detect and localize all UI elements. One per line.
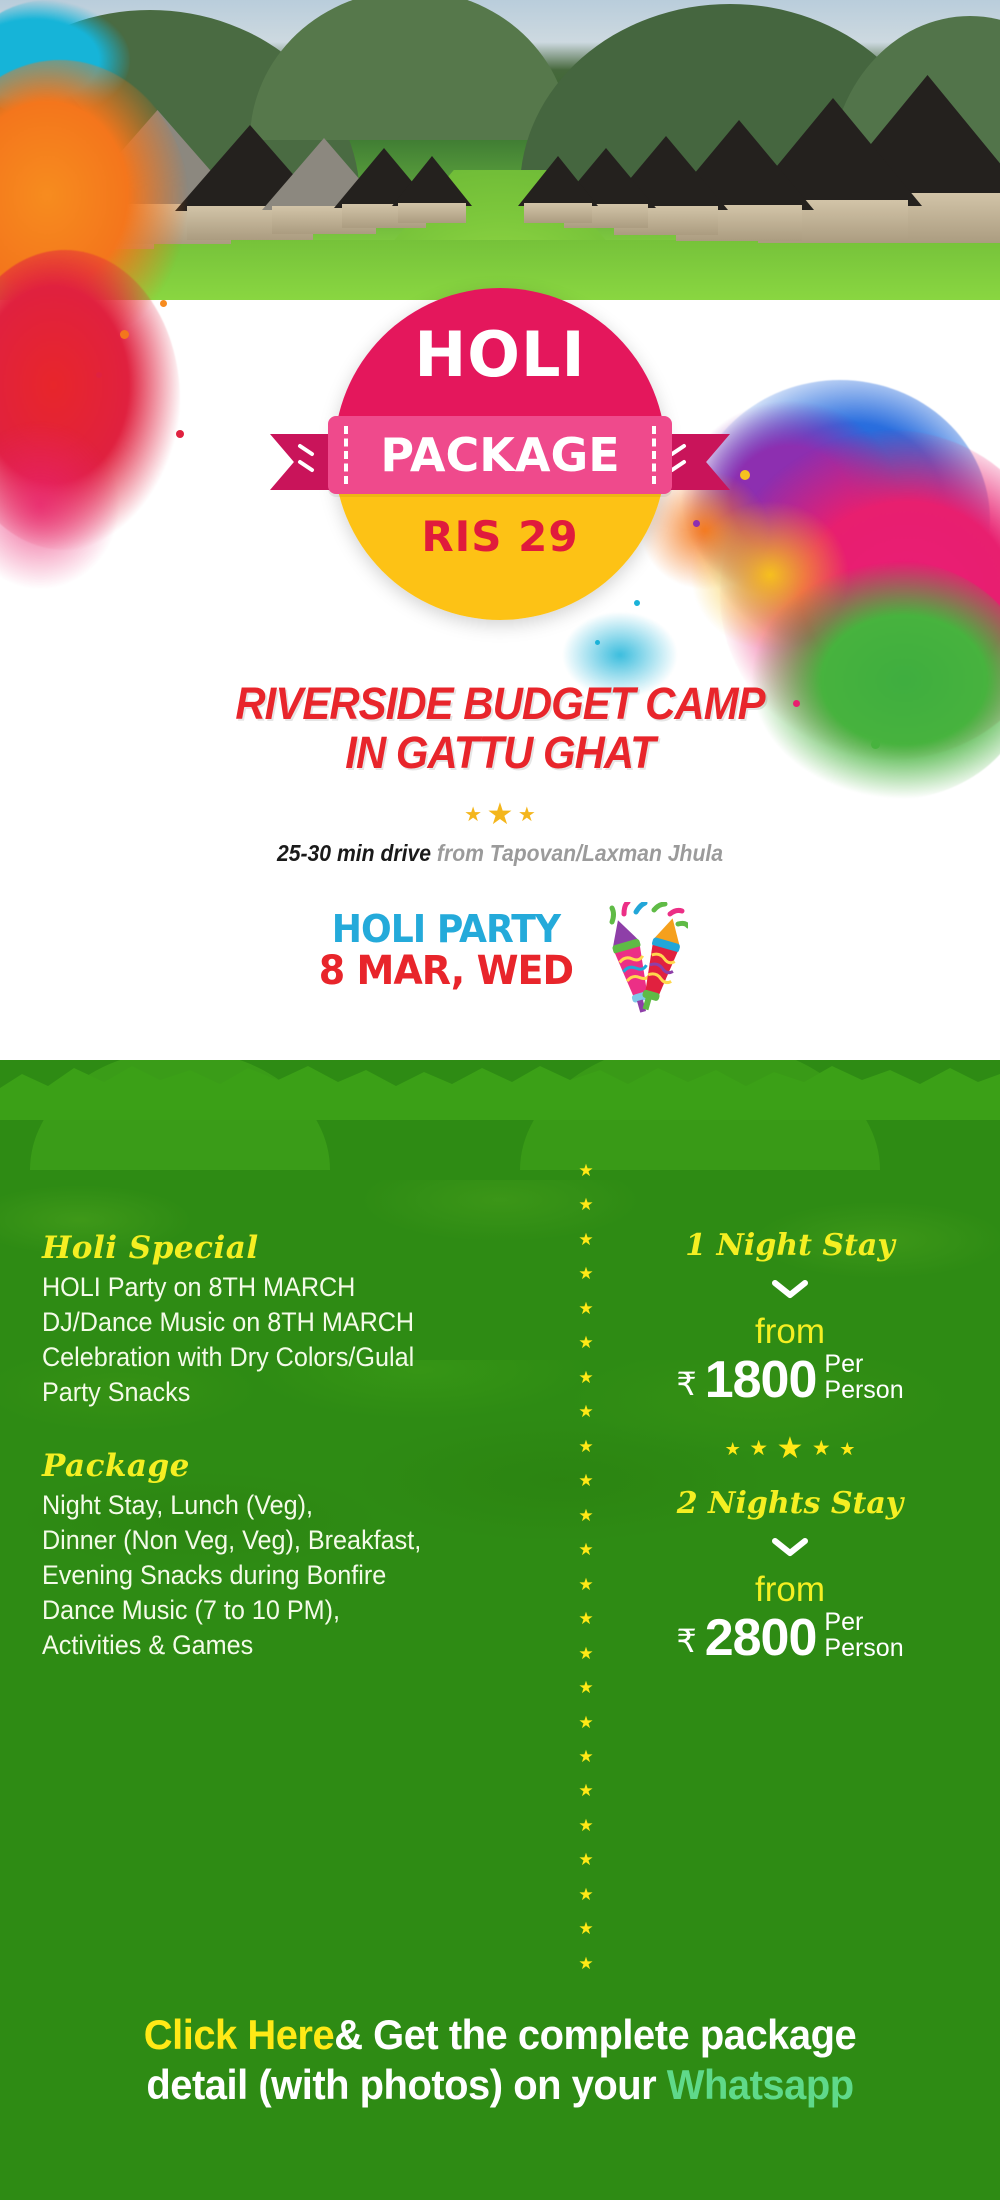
price-from-label: from: [610, 1572, 970, 1607]
price-option-title: 2 Nights Stay: [610, 1486, 970, 1521]
package-heading: Package: [42, 1448, 552, 1484]
detail-line: DJ/Dance Music on 8TH MARCH: [42, 1305, 527, 1340]
tent-row-right: [500, 0, 1000, 300]
detail-line: Dinner (Non Veg, Veg), Breakfast,: [42, 1523, 527, 1558]
drive-time-light: from Tapovan/Laxman Jhula: [437, 840, 723, 866]
pricing-star-divider: ★ ★ ★ ★ ★: [610, 1434, 970, 1464]
badge-ribbon: PACKAGE: [270, 416, 730, 494]
star-icon: ★: [749, 1438, 768, 1459]
star-icon: ★: [578, 1851, 593, 1868]
star-icon: ★: [578, 1438, 593, 1455]
cta-line-2[interactable]: detail (with photos) on your Whatsapp: [25, 2060, 975, 2110]
holi-package-badge: HOLI PACKAGE RIS 29: [334, 288, 666, 620]
firecracker-icon: [602, 902, 688, 1014]
price-row: ₹ 2800 Per Person: [610, 1609, 970, 1664]
holi-party-text: HOLI PARTY 8 MAR, WED: [312, 910, 580, 992]
ribbon-band: PACKAGE: [328, 416, 672, 494]
spatter-dot: [120, 330, 129, 339]
price-per-label: Per Person: [824, 1609, 903, 1664]
star-icon: ★: [578, 1162, 593, 1179]
star-icon: ★: [839, 1440, 855, 1458]
detail-line: Dance Music (7 to 10 PM),: [42, 1593, 527, 1628]
star-icon: ★: [578, 1334, 593, 1351]
badge-ribbon-label: PACKAGE: [328, 416, 672, 494]
page-title: RIVERSIDE BUDGET CAMP IN GATTU GHAT: [35, 680, 965, 777]
holi-special-heading: Holi Special: [42, 1230, 552, 1266]
detail-line: Evening Snacks during Bonfire: [42, 1558, 527, 1593]
star-icon: ★: [578, 1196, 593, 1213]
cta-line-1[interactable]: Click Here& Get the complete package: [25, 2010, 975, 2060]
star-icon: ★: [578, 1369, 593, 1386]
price-option-1-night: 1 Night Stay from ₹ 1800 Per Person: [610, 1228, 970, 1406]
spatter-dot: [740, 470, 750, 480]
holi-special-block: Holi Special HOLI Party on 8TH MARCH DJ/…: [42, 1230, 552, 1410]
star-icon: ★: [578, 1679, 593, 1696]
price-per-line1: Per: [824, 1350, 863, 1378]
star-icon: ★: [464, 805, 482, 825]
star-icon: ★: [578, 1541, 593, 1558]
price-per-line1: Per: [824, 1608, 863, 1636]
tent: [518, 156, 598, 206]
rating-stars: ★ ★ ★: [0, 800, 1000, 830]
star-icon: ★: [578, 1472, 593, 1489]
price-amount: 1800: [705, 1356, 817, 1405]
drive-time-note: 25-30 min drive from Tapovan/Laxman Jhul…: [40, 840, 960, 867]
chevron-down-icon: [770, 1279, 810, 1299]
price-option-2-nights: 2 Nights Stay from ₹ 2800 Per Person: [610, 1486, 970, 1664]
drive-time-bold: 25-30 min drive: [277, 840, 431, 866]
price-per-line2: Person: [824, 1634, 903, 1662]
holi-party-label: HOLI PARTY: [319, 910, 573, 950]
detail-line: HOLI Party on 8TH MARCH: [42, 1270, 527, 1305]
star-icon: ★: [518, 805, 536, 825]
title-line-2: IN GATTU GHAT: [35, 729, 965, 778]
cta-banner[interactable]: Click Here& Get the complete package det…: [25, 2010, 975, 2111]
spatter-dot: [176, 430, 184, 438]
poster-root: HOLI PACKAGE RIS 29 RI: [0, 0, 1000, 2200]
package-body: Night Stay, Lunch (Veg), Dinner (Non Veg…: [42, 1488, 527, 1663]
star-icon: ★: [487, 800, 514, 830]
star-icon: ★: [578, 1403, 593, 1420]
spatter-dot: [160, 300, 167, 307]
star-icon: ★: [578, 1955, 593, 1972]
rupee-icon: ₹: [676, 1625, 696, 1663]
detail-line: Night Stay, Lunch (Veg),: [42, 1488, 527, 1523]
star-icon: ★: [578, 1231, 593, 1248]
spatter-dot: [693, 520, 700, 527]
star-icon: ★: [578, 1886, 593, 1903]
title-line-1: RIVERSIDE BUDGET CAMP: [35, 680, 965, 729]
star-icon: ★: [578, 1610, 593, 1627]
price-per-label: Per Person: [824, 1351, 903, 1406]
badge-code: RIS 29: [334, 512, 666, 561]
star-divider-column: ★ ★ ★ ★ ★ ★ ★ ★ ★ ★ ★ ★ ★ ★ ★ ★ ★ ★ ★ ★ …: [573, 1162, 599, 1972]
star-icon: ★: [578, 1265, 593, 1282]
package-block: Package Night Stay, Lunch (Veg), Dinner …: [42, 1448, 552, 1663]
detail-line: Party Snacks: [42, 1375, 527, 1410]
holi-party-date: 8 MAR, WED: [319, 950, 573, 992]
star-icon: ★: [578, 1782, 593, 1799]
cta-second-line: detail (with photos) on your: [146, 2061, 666, 2108]
details-column: Holi Special HOLI Party on 8TH MARCH DJ/…: [42, 1230, 552, 1663]
tent: [392, 156, 472, 206]
spatter-dot: [595, 640, 600, 645]
price-row: ₹ 1800 Per Person: [610, 1351, 970, 1406]
star-icon: ★: [725, 1440, 741, 1458]
price-per-line2: Person: [824, 1376, 903, 1404]
price-amount: 2800: [705, 1614, 817, 1663]
spatter-dot: [96, 372, 102, 378]
star-icon: ★: [578, 1714, 593, 1731]
rupee-icon: ₹: [676, 1368, 696, 1406]
chevron-down-icon: [770, 1537, 810, 1557]
price-from-label: from: [610, 1314, 970, 1349]
holi-party-block: HOLI PARTY 8 MAR, WED: [0, 910, 1000, 1014]
badge-headline: HOLI: [334, 324, 666, 386]
click-here-link[interactable]: Click Here: [144, 2011, 334, 2058]
star-icon: ★: [578, 1507, 593, 1524]
detail-line: Celebration with Dry Colors/Gulal: [42, 1340, 527, 1375]
pricing-column: 1 Night Stay from ₹ 1800 Per Person ★ ★ …: [610, 1228, 970, 1663]
star-icon: ★: [812, 1438, 831, 1459]
star-icon: ★: [578, 1300, 593, 1317]
cta-middle-text: & Get the complete package: [334, 2011, 856, 2058]
holi-special-body: HOLI Party on 8TH MARCH DJ/Dance Music o…: [42, 1270, 527, 1410]
detail-line: Activities & Games: [42, 1628, 527, 1663]
star-icon: ★: [578, 1576, 593, 1593]
star-icon: ★: [578, 1748, 593, 1765]
whatsapp-label[interactable]: Whatsapp: [667, 2061, 854, 2108]
price-option-title: 1 Night Stay: [610, 1228, 970, 1263]
star-icon: ★: [578, 1920, 593, 1937]
star-icon: ★: [578, 1645, 593, 1662]
star-icon: ★: [578, 1817, 593, 1834]
star-icon: ★: [777, 1434, 804, 1464]
